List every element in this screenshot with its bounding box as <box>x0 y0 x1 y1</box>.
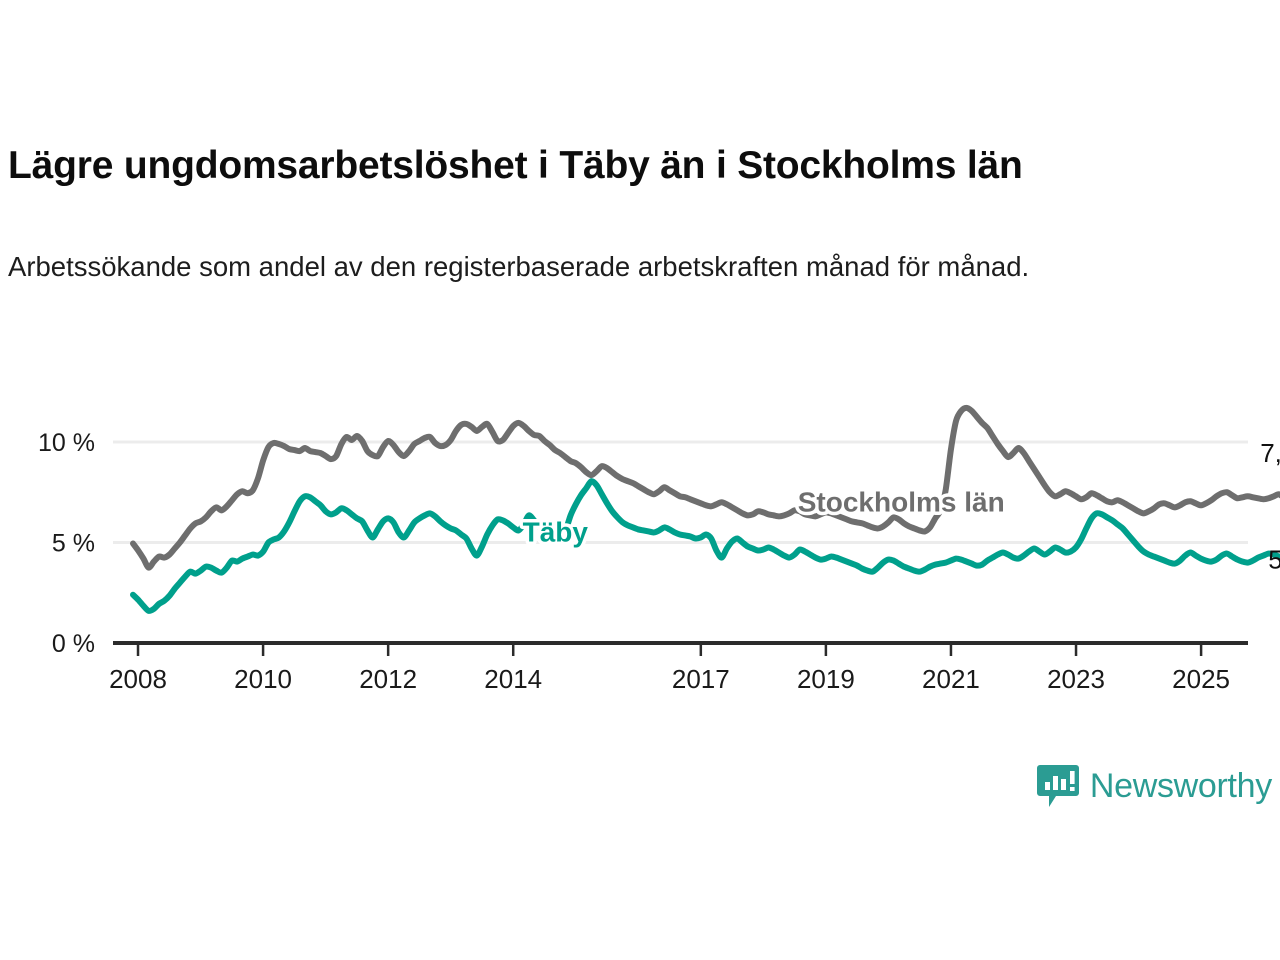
x-axis-tick-label: 2012 <box>359 664 417 694</box>
chart-page: Lägre ungdomsarbetslöshet i Täby än i St… <box>0 0 1280 960</box>
y-axis-tick-label: 10 % <box>38 429 95 457</box>
x-axis-tick-label: 2014 <box>484 664 542 694</box>
x-axis-group <box>113 643 1248 656</box>
page-title: Lägre ungdomsarbetslöshet i Täby än i St… <box>8 143 1268 189</box>
y-axis-tick-label: 5 % <box>52 530 95 558</box>
x-axis-tick-label: 2010 <box>234 664 292 694</box>
taby-end-value-label: 5,2 % <box>1268 544 1280 574</box>
newsworthy-bars-bubble-icon <box>1037 763 1079 809</box>
stockholm-series-label: Stockholms län <box>798 486 1005 517</box>
footer: Newsworthy <box>0 755 1280 845</box>
x-axis-tick-label: 2017 <box>672 664 730 694</box>
x-axis-tick-label: 2019 <box>797 664 855 694</box>
stockholm-end-value-label: 7,7 % <box>1260 438 1280 468</box>
taby-series-label: Täby <box>523 516 589 547</box>
page-subtitle: Arbetssökande som andel av den registerb… <box>8 248 1178 286</box>
line-chart: 0 %5 %10 % 20082010201220142017201920212… <box>0 380 1280 700</box>
x-axis-tick-label: 2021 <box>922 664 980 694</box>
newsworthy-logo[interactable]: Newsworthy <box>1037 763 1272 809</box>
chart-container: 0 %5 %10 % 20082010201220142017201920212… <box>0 380 1280 700</box>
y-axis-tick-label: 0 % <box>52 630 95 658</box>
logo-wordmark: Newsworthy <box>1090 769 1272 803</box>
x-axis-tick-label: 2023 <box>1047 664 1105 694</box>
x-axis-tick-label: 2008 <box>109 664 167 694</box>
y-axis-labels-group: 0 %5 %10 % <box>38 429 95 658</box>
x-axis-tick-label: 2025 <box>1172 664 1230 694</box>
x-axis-labels-group: 200820102012201420172019202120232025 <box>109 664 1230 694</box>
series-lines-group <box>133 408 1280 611</box>
